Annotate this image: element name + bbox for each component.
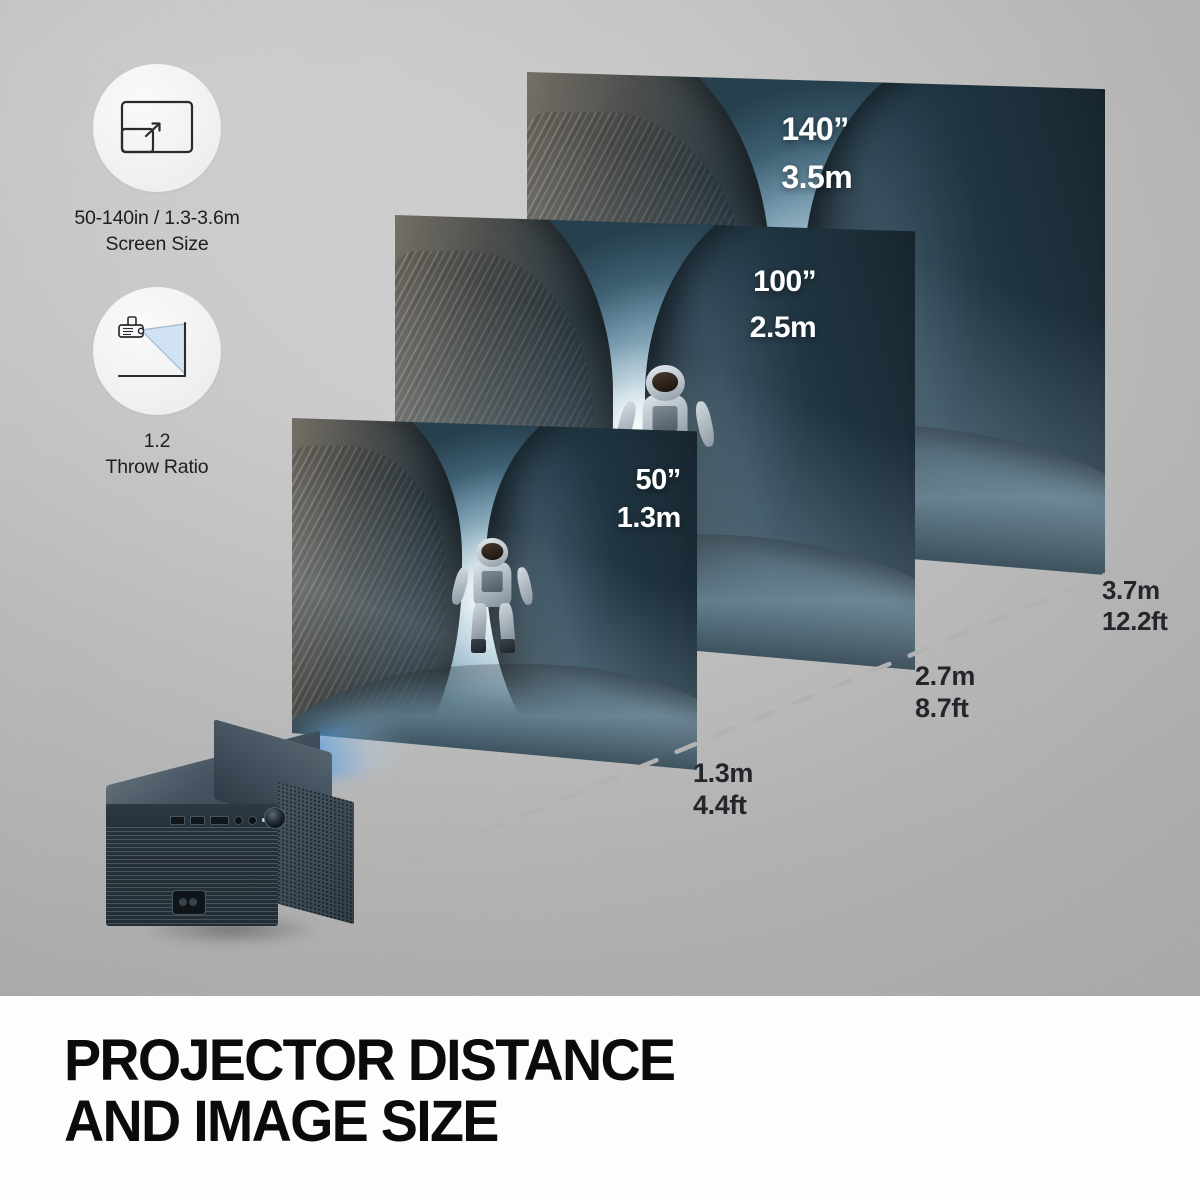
screen-label-140-metric: 3.5m xyxy=(781,160,852,196)
screen-size-caption: 50-140in / 1.3-3.6m Screen Size xyxy=(52,206,262,257)
distance-metric-3: 3.7m xyxy=(1102,575,1168,606)
hdmi-port-icon xyxy=(210,816,229,825)
throw-ratio-icon-circle xyxy=(93,287,221,415)
projector-port-row xyxy=(170,812,266,828)
page-title-line-1: PROJECTOR DISTANCE xyxy=(64,1030,674,1091)
infographic-canvas: 140” 3.5m 100” 2.5m xyxy=(0,0,1200,1200)
usb-port-icon xyxy=(170,816,185,825)
page-title-line-2: AND IMAGE SIZE xyxy=(64,1091,674,1152)
distance-marker-3: 3.7m 12.2ft xyxy=(1102,575,1168,637)
feature-throw-ratio: 1.2 Throw Ratio xyxy=(52,287,262,480)
screen-label-140-size: 140” xyxy=(781,112,848,148)
throw-ratio-caption-line2: Throw Ratio xyxy=(52,455,262,481)
distance-metric-1: 1.3m xyxy=(693,757,753,789)
audio-jack-icon xyxy=(248,816,257,825)
page-title: PROJECTOR DISTANCE AND IMAGE SIZE xyxy=(64,1030,700,1153)
screen-size-icon-circle xyxy=(93,64,221,192)
audio-jack-icon xyxy=(234,816,243,825)
power-socket-icon xyxy=(172,890,206,915)
projector-device xyxy=(96,700,386,980)
screen-label-100-metric: 2.5m xyxy=(750,311,816,345)
astronaut-figure-50 xyxy=(458,538,527,651)
distance-imperial-1: 4.4ft xyxy=(693,789,753,821)
distance-imperial-2: 8.7ft xyxy=(915,692,975,724)
screen-size-icon xyxy=(118,98,196,158)
distance-marker-1: 1.3m 4.4ft xyxy=(693,757,753,822)
projector-side-mesh-panel xyxy=(278,782,354,924)
screen-size-caption-line2: Screen Size xyxy=(52,232,262,258)
feature-screen-size: 50-140in / 1.3-3.6m Screen Size xyxy=(52,64,262,257)
throw-ratio-icon xyxy=(111,314,203,388)
throw-ratio-caption: 1.2 Throw Ratio xyxy=(52,429,262,480)
screen-size-caption-line1: 50-140in / 1.3-3.6m xyxy=(52,206,262,232)
screen-label-50-metric: 1.3m xyxy=(617,502,681,534)
usb-port-icon xyxy=(190,816,205,825)
throw-ratio-caption-line1: 1.2 xyxy=(52,429,262,455)
screen-label-50-size: 50” xyxy=(636,464,681,496)
distance-metric-2: 2.7m xyxy=(915,660,975,692)
distance-imperial-3: 12.2ft xyxy=(1102,606,1168,637)
distance-marker-2: 2.7m 8.7ft xyxy=(915,660,975,725)
screen-label-100-size: 100” xyxy=(753,265,816,299)
power-button[interactable] xyxy=(264,807,286,829)
speaker-mesh-icon xyxy=(278,782,354,924)
